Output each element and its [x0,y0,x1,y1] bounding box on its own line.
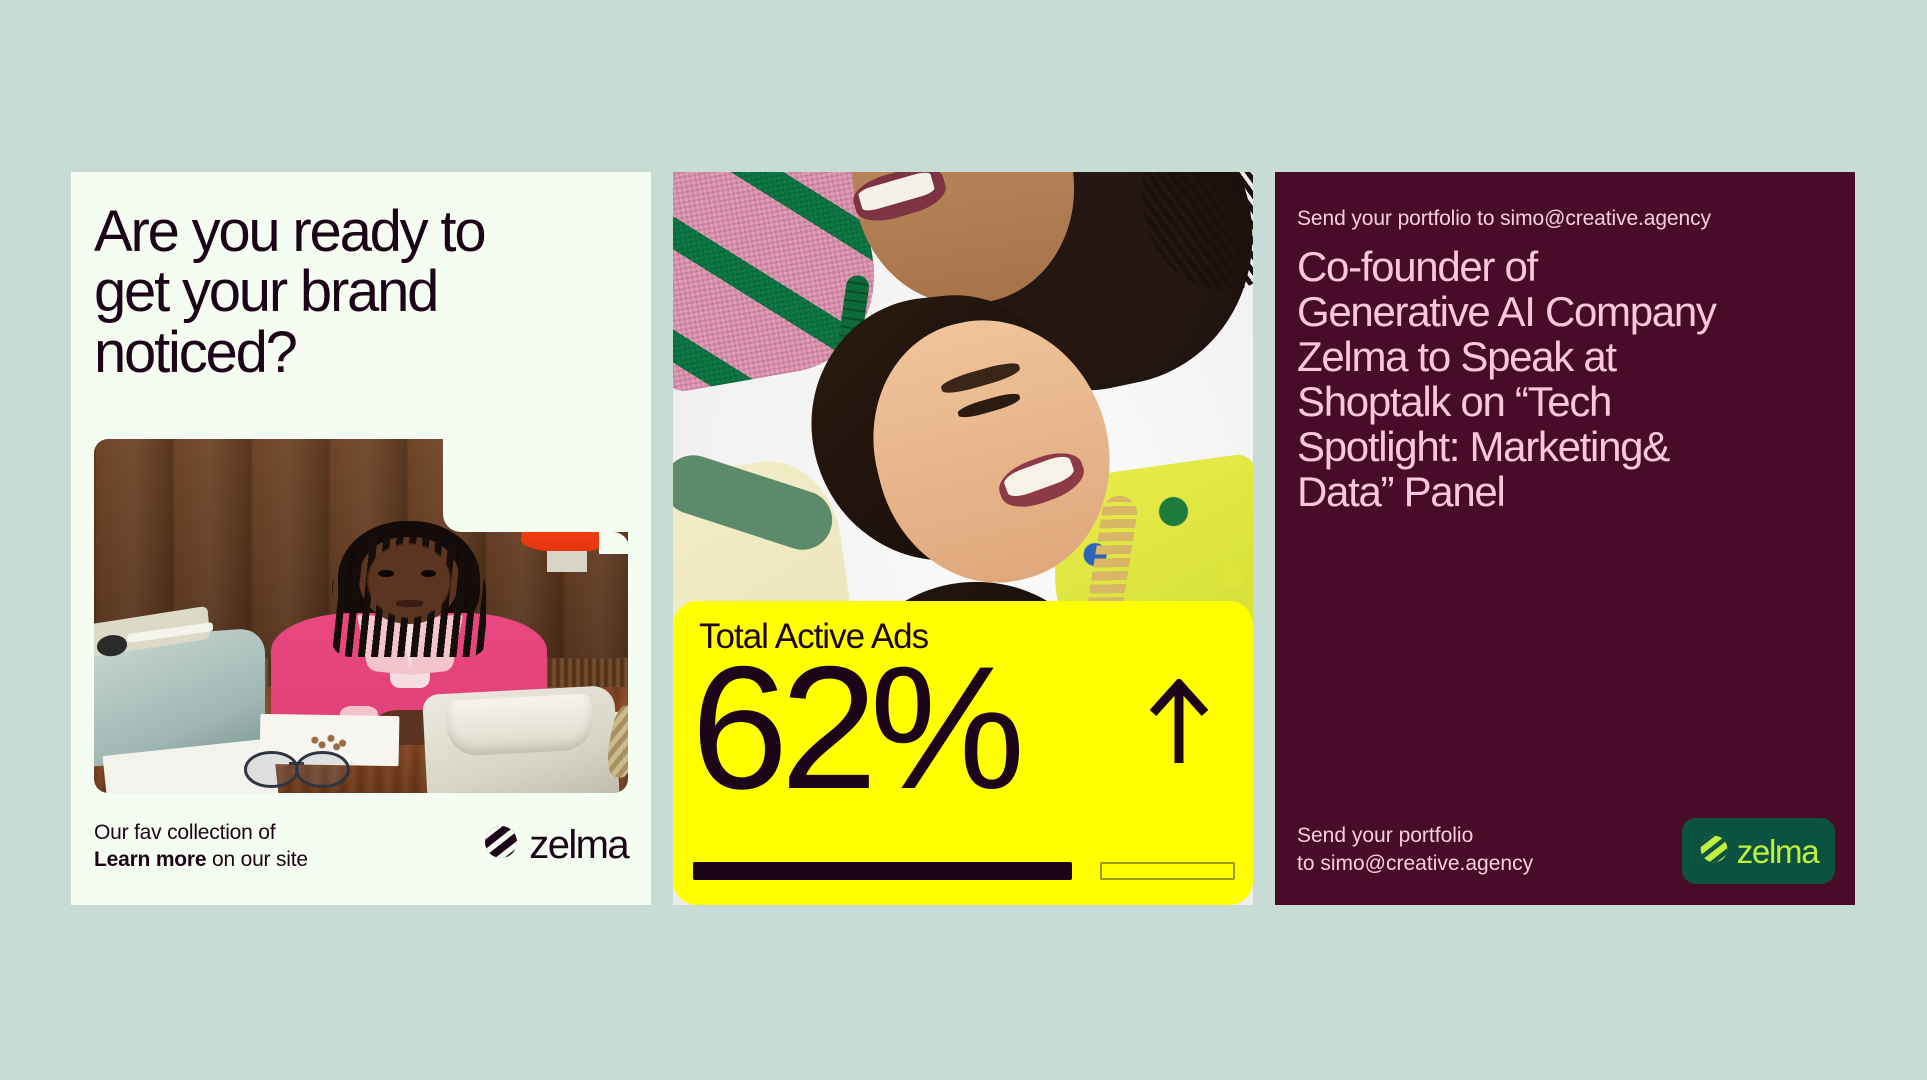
phone-handset [446,694,595,758]
brand-footer-text: Our fav collection of Learn more on our … [94,820,308,874]
stat-panel: Total Active Ads 62% [673,601,1253,905]
stat-card[interactable]: Total Active Ads 62% [673,172,1253,905]
progress-bar-fill [693,862,1072,880]
progress-bar [693,862,1235,880]
brand-card[interactable]: Are you ready to get your brand noticed? [71,172,651,905]
brand-headline: Are you ready to get your brand noticed? [94,202,634,383]
eyeglasses-icon [244,751,351,783]
news-card[interactable]: Send your portfolio to simo@creative.age… [1275,172,1855,905]
rotary-phone-icon [422,685,620,793]
news-headline: Co-founder of Generative AI Company Zelm… [1297,245,1843,515]
stat-value: 62% [691,641,1017,816]
news-kicker: Send your portfolio to simo@creative.age… [1297,207,1711,231]
brand-photo [94,439,628,793]
phone-cord [604,704,628,780]
footer-line-1: Our fav collection of [94,821,275,844]
zelma-circle-slash-icon [1699,834,1729,869]
footer-line-2-rest: on our site [206,848,308,871]
zelma-circle-slash-icon [483,824,519,865]
brand-footer: Our fav collection of Learn more on our … [94,820,628,882]
zelma-logo-badge[interactable]: zelma [1682,818,1835,884]
progress-bar-track [1100,862,1236,880]
hair-locs [332,530,486,657]
zelma-logo[interactable]: zelma [483,824,628,865]
lens-left [244,751,299,789]
learn-more-link[interactable]: Learn more [94,848,206,871]
news-footer-contact: Send your portfolio to simo@creative.age… [1297,822,1533,877]
poster-canvas: Are you ready to get your brand noticed? [0,0,1927,1080]
typewriter-knob [97,634,127,656]
photo-notch-cutout [443,438,629,532]
zelma-wordmark: zelma [1737,835,1819,868]
arrow-up-icon [1149,679,1209,765]
zelma-wordmark: zelma [529,825,628,865]
